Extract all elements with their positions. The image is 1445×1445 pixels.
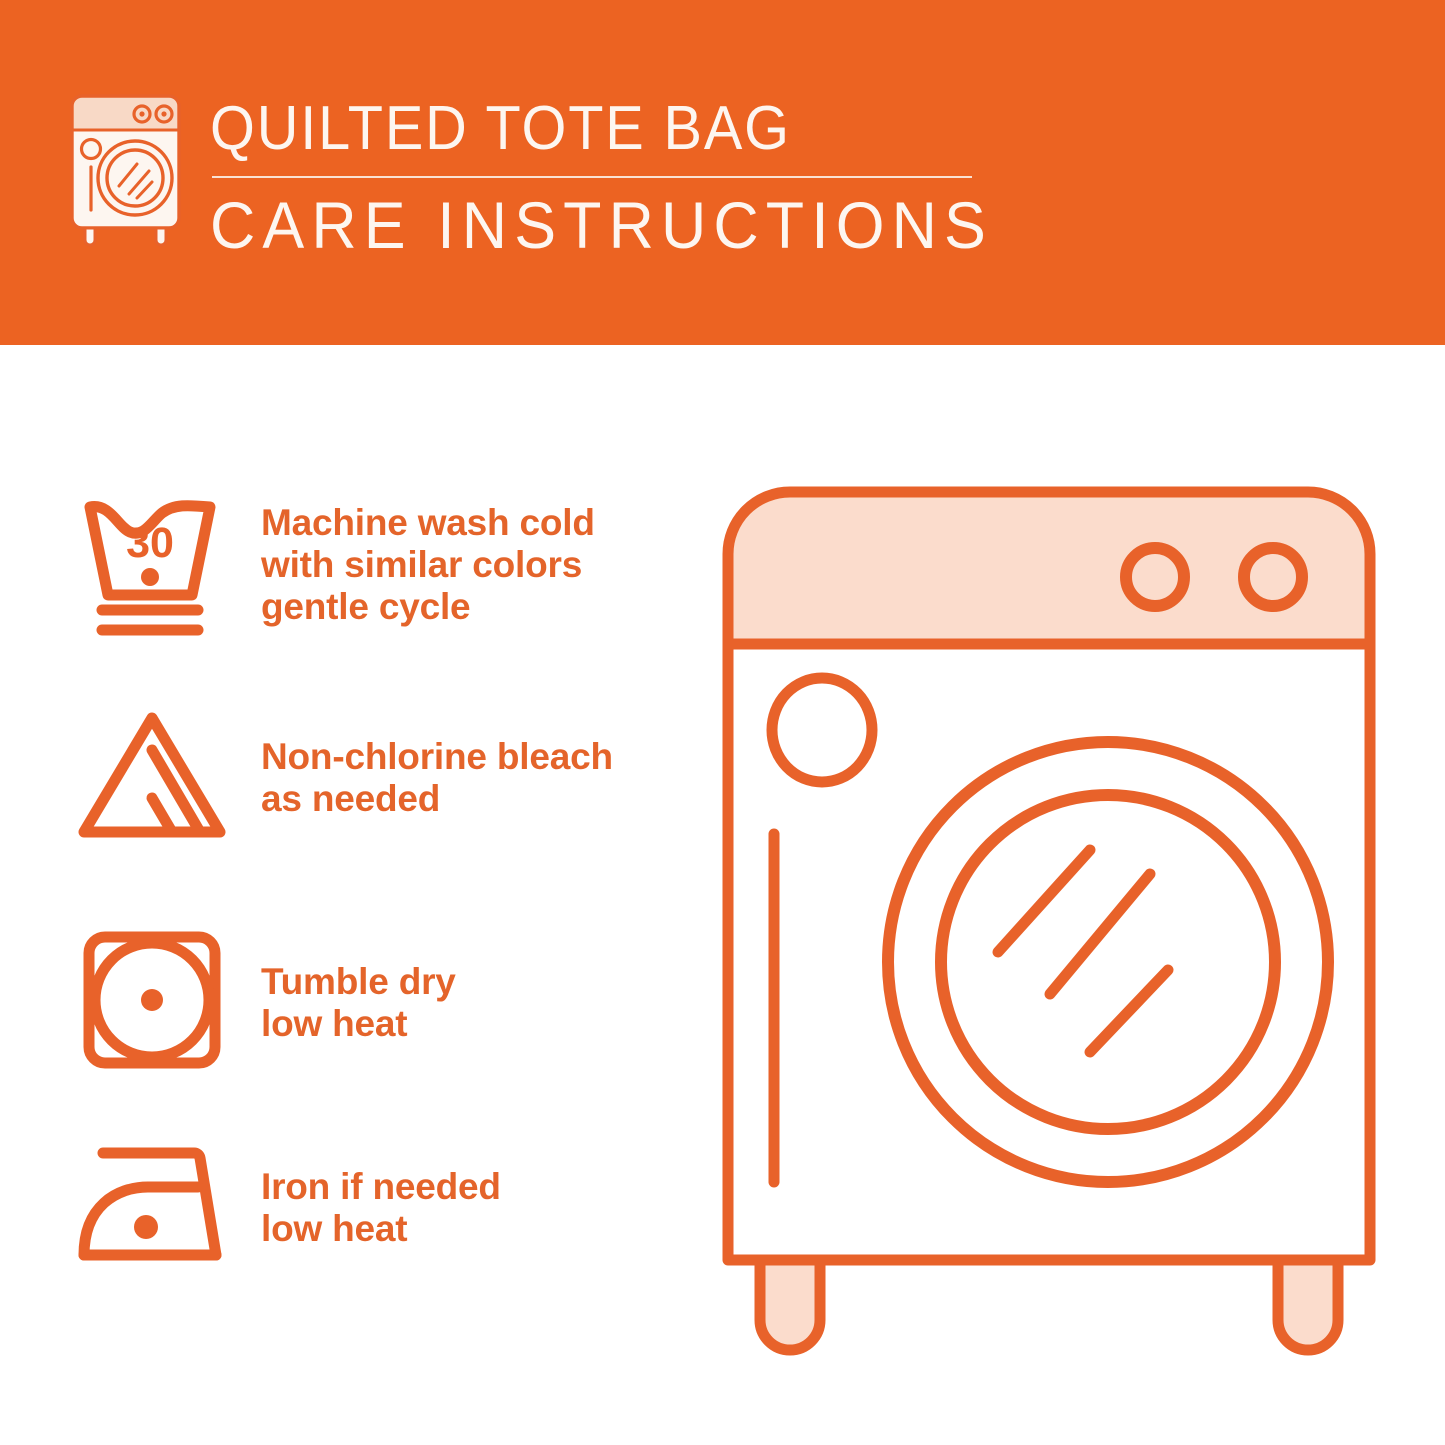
care-line: Tumble dry [261,961,456,1003]
title-divider [212,176,972,178]
care-line: low heat [261,1003,456,1045]
care-line: gentle cycle [261,586,595,628]
header-title-group: QUILTED TOTE BAG CARE INSTRUCTIONS [210,88,1034,262]
tumble-dry-icon [70,925,235,1080]
care-line: Non-chlorine bleach [261,736,613,778]
washing-machine-icon [63,88,188,248]
care-text-tumble-dry: Tumble dry low heat [261,961,456,1045]
care-text-bleach: Non-chlorine bleach as needed [261,736,613,820]
care-line: Iron if needed [261,1166,501,1208]
washing-machine-illustration [718,482,1393,1372]
page-title: QUILTED TOTE BAG [210,94,977,164]
page-header: QUILTED TOTE BAG CARE INSTRUCTIONS [0,0,1445,345]
iron-icon [70,1135,235,1280]
care-row-wash: 30 Machine wash cold with similar colors… [70,485,595,645]
care-row-iron: Iron if needed low heat [70,1135,501,1280]
wash-temperature-label: 30 [126,519,174,567]
bleach-triangle-icon [70,700,235,855]
leg-left [760,1252,820,1350]
control-panel [728,492,1370,644]
care-line: as needed [261,778,613,820]
care-row-bleach: Non-chlorine bleach as needed [70,700,613,855]
header-content: QUILTED TOTE BAG CARE INSTRUCTIONS [63,88,1034,262]
leg-right [1278,1252,1338,1350]
wash-tub-icon: 30 [70,485,235,645]
care-line: with similar colors [261,544,595,586]
care-line: Machine wash cold [261,502,595,544]
page-subtitle: CARE INSTRUCTIONS [210,188,993,262]
care-instruction-list: 30 Machine wash cold with similar colors… [0,345,690,1445]
care-text-iron: Iron if needed low heat [261,1166,501,1250]
care-row-tumble-dry: Tumble dry low heat [70,925,456,1080]
care-text-wash: Machine wash cold with similar colors ge… [261,502,595,628]
care-line: low heat [261,1208,501,1250]
